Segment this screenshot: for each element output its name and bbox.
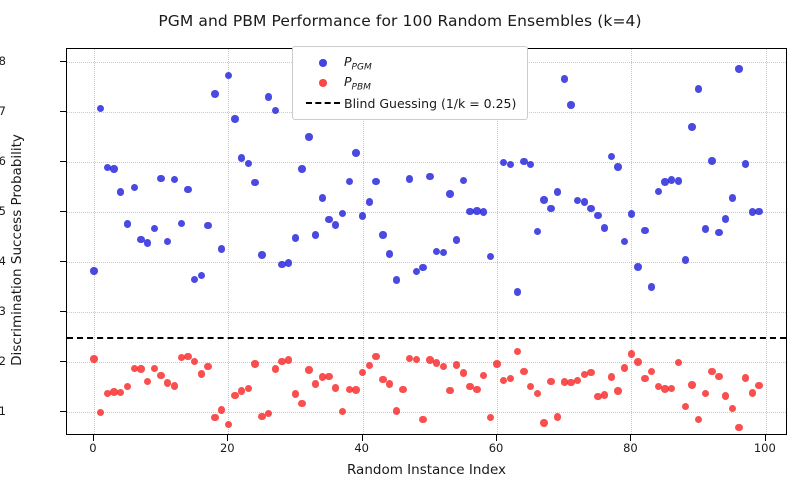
data-point-pgm: [722, 215, 729, 222]
data-point-pgm: [527, 161, 534, 168]
data-point-pbm: [688, 381, 695, 388]
data-point-pbm: [218, 406, 225, 413]
y-tick-mark: [60, 61, 66, 62]
data-point-pgm: [285, 259, 292, 266]
data-point-pgm: [406, 175, 413, 182]
data-point-pgm: [695, 85, 702, 92]
data-point-pgm: [567, 101, 574, 108]
data-point-pbm: [191, 358, 198, 365]
data-point-pbm: [601, 391, 608, 398]
data-point-pgm: [171, 176, 178, 183]
data-point-pgm: [90, 267, 97, 274]
x-tick-mark: [496, 435, 497, 441]
data-point-pbm: [514, 348, 521, 355]
data-point-pgm: [218, 245, 225, 252]
data-point-pgm: [144, 239, 151, 246]
data-point-pbm: [682, 403, 689, 410]
data-point-pgm: [682, 256, 689, 263]
x-tick-label: 0: [89, 441, 96, 455]
data-point-pbm: [393, 407, 400, 414]
x-tick-label: 40: [354, 441, 369, 455]
data-point-pgm: [298, 165, 305, 172]
data-point-pbm: [480, 372, 487, 379]
data-point-pbm: [144, 378, 151, 385]
data-point-pgm: [312, 231, 319, 238]
data-point-pbm: [634, 358, 641, 365]
data-point-pbm: [386, 380, 393, 387]
data-point-pgm: [514, 288, 521, 295]
data-point-pbm: [621, 364, 628, 371]
y-tick-label: 0.1: [0, 404, 6, 418]
data-point-pgm: [352, 149, 359, 156]
y-tick-label: 0.5: [0, 204, 6, 218]
legend-label-pgm: PPGM: [344, 54, 372, 73]
data-point-pgm: [372, 178, 379, 185]
data-point-pbm: [534, 390, 541, 397]
gridline-vertical: [766, 49, 767, 434]
gridline-horizontal: [67, 212, 786, 213]
data-point-pbm: [473, 386, 480, 393]
data-point-pgm: [715, 229, 722, 236]
data-point-pbm: [251, 360, 258, 367]
data-point-pgm: [487, 253, 494, 260]
data-point-pgm: [97, 105, 104, 112]
y-tick-label: 0.3: [0, 304, 6, 318]
legend-item-pbm: PPBM: [302, 73, 516, 93]
data-point-pbm: [628, 350, 635, 357]
data-point-pgm: [245, 160, 252, 167]
legend-dashed-line-icon: [302, 102, 344, 104]
data-point-pgm: [131, 184, 138, 191]
data-point-pbm: [298, 400, 305, 407]
data-point-pgm: [164, 238, 171, 245]
data-point-pbm: [675, 359, 682, 366]
data-point-pbm: [715, 373, 722, 380]
data-point-pbm: [668, 385, 675, 392]
data-point-pbm: [151, 365, 158, 372]
data-point-pgm: [547, 205, 554, 212]
data-point-pbm: [614, 387, 621, 394]
gridline-vertical: [94, 49, 95, 434]
data-point-pbm: [171, 382, 178, 389]
x-tick-mark: [765, 435, 766, 441]
data-point-pbm: [359, 369, 366, 376]
data-point-pgm: [581, 198, 588, 205]
data-point-pbm: [527, 383, 534, 390]
data-point-pbm: [540, 419, 547, 426]
y-tick-mark: [60, 411, 66, 412]
legend-item-blind-guessing: Blind Guessing (1/k = 0.25): [302, 93, 516, 113]
data-point-pbm: [225, 421, 232, 428]
data-point-pbm: [292, 390, 299, 397]
data-point-pgm: [211, 90, 218, 97]
chart-title: PGM and PBM Performance for 100 Random E…: [0, 12, 800, 30]
y-tick-mark: [60, 361, 66, 362]
data-point-pgm: [621, 238, 628, 245]
data-point-pgm: [198, 272, 205, 279]
data-point-pbm: [137, 365, 144, 372]
data-point-pgm: [184, 186, 191, 193]
data-point-pbm: [332, 384, 339, 391]
gridline-horizontal: [67, 312, 786, 313]
x-tick-label: 20: [220, 441, 235, 455]
data-point-pgm: [231, 115, 238, 122]
data-point-pgm: [419, 264, 426, 271]
x-tick-label: 100: [754, 441, 776, 455]
data-point-pbm: [507, 375, 514, 382]
data-point-pgm: [628, 210, 635, 217]
y-tick-mark: [60, 111, 66, 112]
data-point-pbm: [117, 389, 124, 396]
data-point-pgm: [594, 212, 601, 219]
legend-marker-pbm-icon: [302, 79, 344, 86]
data-point-pgm: [742, 160, 749, 167]
data-point-pgm: [554, 188, 561, 195]
data-point-pgm: [729, 194, 736, 201]
data-point-pgm: [251, 179, 258, 186]
data-point-pbm: [305, 366, 312, 373]
y-tick-mark: [60, 161, 66, 162]
gridline-horizontal: [67, 262, 786, 263]
blind-guessing-reference-line: [67, 337, 786, 339]
data-point-pbm: [722, 392, 729, 399]
x-tick-label: 80: [623, 441, 638, 455]
y-tick-label: 0.7: [0, 104, 6, 118]
data-point-pbm: [641, 375, 648, 382]
data-point-pbm: [453, 361, 460, 368]
x-tick-label: 60: [489, 441, 504, 455]
legend-label-blind-guessing: Blind Guessing (1/k = 0.25): [344, 96, 516, 111]
data-point-pbm: [520, 368, 527, 375]
data-point-pgm: [648, 283, 655, 290]
data-point-pbm: [90, 355, 97, 362]
data-point-pbm: [198, 370, 205, 377]
data-point-pgm: [359, 212, 366, 219]
data-point-pgm: [366, 198, 373, 205]
data-point-pbm: [460, 369, 467, 376]
data-point-pgm: [641, 227, 648, 234]
data-point-pgm: [386, 250, 393, 257]
data-point-pbm: [487, 414, 494, 421]
x-tick-mark: [93, 435, 94, 441]
data-point-pgm: [265, 93, 272, 100]
data-point-pbm: [204, 363, 211, 370]
data-point-pgm: [634, 263, 641, 270]
data-point-pbm: [312, 380, 319, 387]
data-point-pbm: [608, 373, 615, 380]
data-point-pgm: [339, 210, 346, 217]
data-point-pbm: [124, 383, 131, 390]
data-point-pgm: [225, 72, 232, 79]
data-point-pgm: [440, 249, 447, 256]
data-point-pbm: [97, 409, 104, 416]
data-point-pgm: [561, 75, 568, 82]
data-point-pgm: [480, 208, 487, 215]
y-tick-mark: [60, 261, 66, 262]
data-point-pgm: [587, 205, 594, 212]
data-point-pgm: [238, 154, 245, 161]
data-point-pgm: [507, 161, 514, 168]
data-point-pgm: [702, 225, 709, 232]
data-point-pbm: [352, 386, 359, 393]
gridline-horizontal: [67, 412, 786, 413]
data-point-pgm: [735, 65, 742, 72]
data-point-pgm: [292, 234, 299, 241]
chart-figure: PGM and PBM Performance for 100 Random E…: [0, 0, 800, 500]
y-tick-mark: [60, 211, 66, 212]
data-point-pbm: [399, 386, 406, 393]
data-point-pbm: [749, 389, 756, 396]
data-point-pgm: [688, 123, 695, 130]
x-tick-mark: [630, 435, 631, 441]
data-point-pbm: [493, 360, 500, 367]
legend-label-pbm: PPBM: [344, 74, 371, 93]
data-point-pbm: [419, 416, 426, 423]
y-tick-label: 0.6: [0, 154, 6, 168]
y-tick-label: 0.2: [0, 354, 6, 368]
y-tick-label: 0.4: [0, 254, 6, 268]
data-point-pbm: [339, 408, 346, 415]
data-point-pbm: [702, 390, 709, 397]
x-tick-mark: [227, 435, 228, 441]
data-point-pgm: [534, 228, 541, 235]
data-point-pbm: [440, 363, 447, 370]
data-point-pbm: [157, 372, 164, 379]
data-point-pgm: [460, 177, 467, 184]
data-point-pgm: [151, 225, 158, 232]
data-point-pgm: [110, 165, 117, 172]
data-point-pbm: [547, 378, 554, 385]
gridline-horizontal: [67, 162, 786, 163]
y-tick-label: 0.8: [0, 54, 6, 68]
data-point-pgm: [305, 133, 312, 140]
data-point-pbm: [325, 373, 332, 380]
data-point-pgm: [272, 107, 279, 114]
data-point-pbm: [366, 362, 373, 369]
data-point-pgm: [258, 251, 265, 258]
data-point-pgm: [191, 276, 198, 283]
data-point-pbm: [587, 369, 594, 376]
data-point-pgm: [601, 224, 608, 231]
x-tick-mark: [362, 435, 363, 441]
data-point-pbm: [648, 368, 655, 375]
y-axis-label: Discrimination Success Probability: [9, 134, 25, 366]
data-point-pgm: [655, 188, 662, 195]
gridline-vertical: [631, 49, 632, 434]
data-point-pgm: [426, 173, 433, 180]
legend-marker-pgm-icon: [302, 59, 344, 66]
data-point-pgm: [379, 231, 386, 238]
y-tick-mark: [60, 311, 66, 312]
data-point-pgm: [608, 153, 615, 160]
data-point-pbm: [742, 374, 749, 381]
data-point-pgm: [124, 220, 131, 227]
data-point-pgm: [204, 222, 211, 229]
data-point-pgm: [178, 220, 185, 227]
data-point-pgm: [393, 276, 400, 283]
data-point-pgm: [614, 163, 621, 170]
gridline-vertical: [228, 49, 229, 434]
chart-legend: PPGM PPBM Blind Guessing (1/k = 0.25): [292, 46, 528, 120]
legend-item-pgm: PPGM: [302, 53, 516, 73]
data-point-pbm: [285, 356, 292, 363]
data-point-pgm: [117, 188, 124, 195]
data-point-pbm: [695, 416, 702, 423]
data-point-pbm: [554, 413, 561, 420]
data-point-pbm: [446, 387, 453, 394]
data-point-pbm: [735, 424, 742, 431]
data-point-pgm: [755, 208, 762, 215]
data-point-pgm: [540, 196, 547, 203]
data-point-pbm: [372, 353, 379, 360]
data-point-pgm: [675, 177, 682, 184]
data-point-pgm: [346, 178, 353, 185]
data-point-pbm: [413, 356, 420, 363]
data-point-pbm: [211, 414, 218, 421]
data-point-pbm: [265, 410, 272, 417]
data-point-pbm: [755, 382, 762, 389]
data-point-pgm: [708, 157, 715, 164]
x-axis-label: Random Instance Index: [66, 462, 787, 478]
data-point-pgm: [446, 190, 453, 197]
data-point-pgm: [319, 194, 326, 201]
data-point-pbm: [272, 365, 279, 372]
data-point-pbm: [729, 405, 736, 412]
data-point-pgm: [157, 175, 164, 182]
data-point-pgm: [332, 221, 339, 228]
data-point-pgm: [453, 236, 460, 243]
data-point-pbm: [245, 385, 252, 392]
data-point-pbm: [574, 377, 581, 384]
